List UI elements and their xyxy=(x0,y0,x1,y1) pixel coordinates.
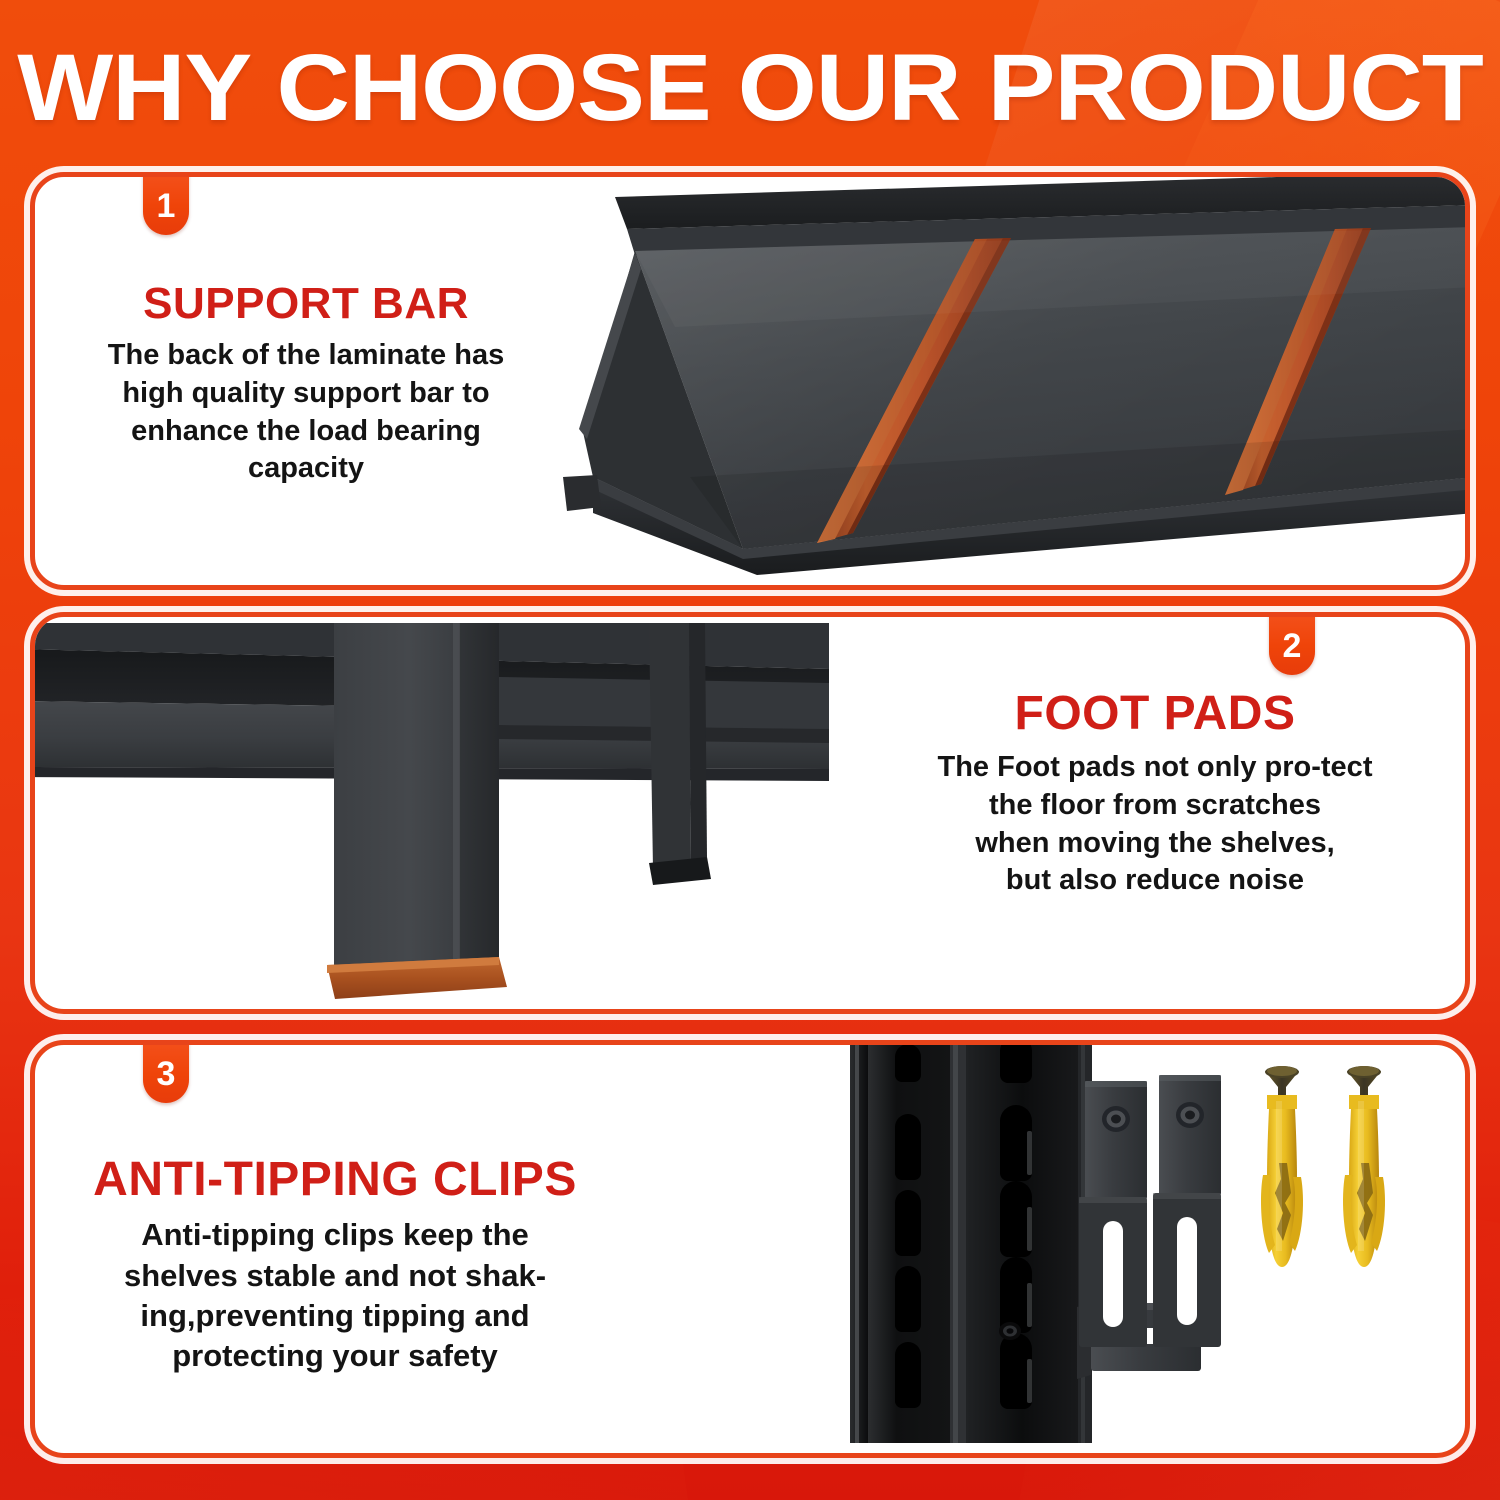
anti-tipping-bracket-2 xyxy=(1153,1075,1221,1347)
card-number-badge-1: 1 xyxy=(143,172,189,235)
card-body-line: when moving the shelves, xyxy=(885,825,1425,863)
wall-anchor-1 xyxy=(1261,1066,1303,1267)
feature-card-anti-tipping-clips: 3 ANTI-TIPPING CLIPS Anti-tipping clips … xyxy=(30,1040,1470,1458)
card-heading-3: ANTI-TIPPING CLIPS xyxy=(65,1155,605,1205)
card-number-badge-2: 2 xyxy=(1269,612,1315,675)
anti-tipping-bracket-1 xyxy=(1079,1081,1147,1347)
card-body-line: high quality support bar to xyxy=(71,375,541,413)
card-body-line: protecting your safety xyxy=(65,1336,605,1376)
shelf-panel-image xyxy=(475,177,1470,575)
feature-card-foot-pads: 2 FOOT PADS The Foot pads not only pro-t… xyxy=(30,612,1470,1014)
post-rivet xyxy=(999,1322,1021,1340)
infographic-page: WHY CHOOSE OUR PRODUCT 1 SUPPORT BAR The… xyxy=(0,0,1500,1500)
page-title: WHY CHOOSE OUR PRODUCT xyxy=(0,34,1500,142)
card-text-block-2: FOOT PADS The Foot pads not only pro-tec… xyxy=(885,689,1425,900)
shelf-leg-image xyxy=(30,617,829,999)
card-body-line: shelves stable and not shak- xyxy=(65,1256,605,1296)
slotted-post xyxy=(850,1045,1092,1443)
card-body-line: Anti-tipping clips keep the xyxy=(65,1215,605,1255)
bracket-hole-2 xyxy=(1176,1102,1204,1128)
wall-anchor-2 xyxy=(1343,1066,1385,1267)
card-body-line: the floor from scratches xyxy=(885,787,1425,825)
card-body-line: but also reduce noise xyxy=(885,862,1425,900)
card-body-line: enhance the load bearing xyxy=(71,413,541,451)
anti-tipping-hardware-image xyxy=(795,1045,1459,1443)
card-body-line: The Foot pads not only pro-tect xyxy=(885,749,1425,787)
card-heading-1: SUPPORT BAR xyxy=(71,281,541,327)
feature-card-support-bar: 1 SUPPORT BAR The back of the laminate h… xyxy=(30,172,1470,590)
card-number-badge-3: 3 xyxy=(143,1040,189,1103)
card-heading-2: FOOT PADS xyxy=(885,689,1425,739)
bracket-hole-1 xyxy=(1102,1106,1130,1132)
card-body-line: ing,preventing tipping and xyxy=(65,1296,605,1336)
card-text-block-3: ANTI-TIPPING CLIPS Anti-tipping clips ke… xyxy=(65,1155,605,1377)
card-text-block-1: SUPPORT BAR The back of the laminate has… xyxy=(71,281,541,488)
card-body-line: The back of the laminate has xyxy=(71,337,541,375)
card-body-line: capacity xyxy=(71,450,541,488)
